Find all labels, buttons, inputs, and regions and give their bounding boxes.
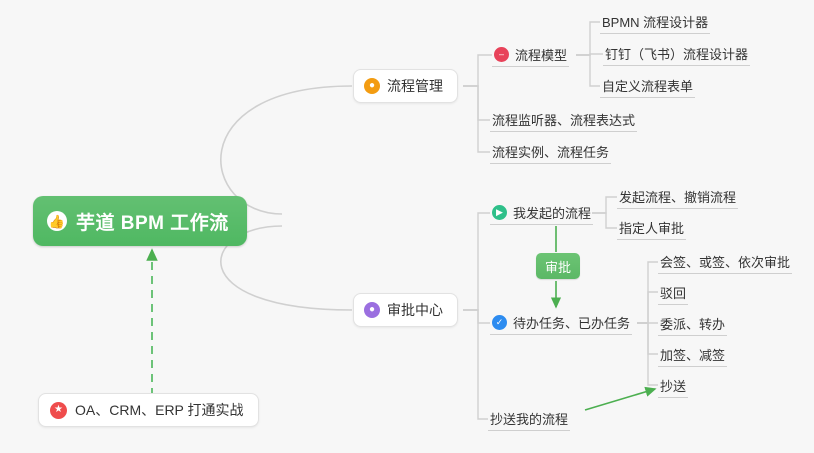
node-bpmn-designer[interactable]: BPMN 流程设计器 — [600, 10, 710, 34]
node-label: 自定义流程表单 — [602, 76, 693, 95]
node-label: 待办任务、已办任务 — [513, 313, 630, 332]
node-todo-done-tasks[interactable]: ✓ 待办任务、已办任务 — [490, 311, 632, 335]
node-add-remove-sign[interactable]: 加签、减签 — [658, 343, 727, 367]
node-reject[interactable]: 驳回 — [658, 281, 688, 305]
branch-node-approval-center[interactable]: ● 审批中心 — [353, 293, 458, 327]
approval-tag-label: 审批 — [545, 257, 571, 276]
approval-highlight-tag[interactable]: 审批 — [536, 253, 580, 279]
node-label: 我发起的流程 — [513, 203, 591, 222]
node-label: 流程监听器、流程表达式 — [492, 110, 635, 129]
node-label: 抄送 — [660, 376, 686, 395]
node-start-cancel-process[interactable]: 发起流程、撤销流程 — [617, 185, 738, 209]
node-label: 流程模型 — [515, 45, 567, 64]
chat-bubble-icon: ● — [364, 302, 380, 318]
node-listener-expression[interactable]: 流程监听器、流程表达式 — [490, 108, 637, 132]
node-instance-task[interactable]: 流程实例、流程任务 — [490, 140, 611, 164]
root-node[interactable]: 👍 芋道 BPM 工作流 — [33, 196, 247, 246]
star-circle-icon: ★ — [50, 402, 67, 419]
node-carbon-copy[interactable]: 抄送 — [658, 374, 688, 398]
node-custom-form[interactable]: 自定义流程表单 — [600, 74, 695, 98]
node-label: 加签、减签 — [660, 345, 725, 364]
node-label: BPMN 流程设计器 — [602, 12, 708, 31]
thumbs-up-icon: 👍 — [47, 211, 67, 231]
node-countersign[interactable]: 会签、或签、依次审批 — [658, 250, 792, 274]
location-pin-icon: ● — [364, 78, 380, 94]
node-label: 委派、转办 — [660, 314, 725, 333]
bottom-note-card[interactable]: ★ OA、CRM、ERP 打通实战 — [38, 393, 259, 427]
node-label: 发起流程、撤销流程 — [619, 187, 736, 206]
node-assign-approver[interactable]: 指定人审批 — [617, 216, 686, 240]
node-label: 驳回 — [660, 283, 686, 302]
minus-circle-icon: – — [494, 47, 509, 62]
node-label: 会签、或签、依次审批 — [660, 252, 790, 271]
node-label: 抄送我的流程 — [490, 409, 568, 428]
bottom-note-label: OA、CRM、ERP 打通实战 — [75, 400, 244, 420]
node-my-initiated-processes[interactable]: ▶ 我发起的流程 — [490, 201, 593, 225]
node-label: 指定人审批 — [619, 218, 684, 237]
check-circle-icon: ✓ — [492, 315, 507, 330]
send-icon: ▶ — [492, 205, 507, 220]
node-label: 钉钉（飞书）流程设计器 — [605, 44, 748, 63]
branch-node-label: 流程管理 — [387, 76, 443, 96]
node-label: 流程实例、流程任务 — [492, 142, 609, 161]
branch-node-process-management[interactable]: ● 流程管理 — [353, 69, 458, 103]
mindmap-canvas: 👍 芋道 BPM 工作流 ● 流程管理 – 流程模型 BPMN 流程设计器 钉钉… — [0, 0, 814, 453]
branch-node-label: 审批中心 — [387, 300, 443, 320]
node-delegate-transfer[interactable]: 委派、转办 — [658, 312, 727, 336]
root-node-label: 芋道 BPM 工作流 — [76, 208, 229, 235]
node-dingtalk-designer[interactable]: 钉钉（飞书）流程设计器 — [603, 42, 750, 66]
node-process-model[interactable]: – 流程模型 — [492, 43, 569, 67]
node-cc-to-me-processes[interactable]: 抄送我的流程 — [488, 407, 570, 431]
